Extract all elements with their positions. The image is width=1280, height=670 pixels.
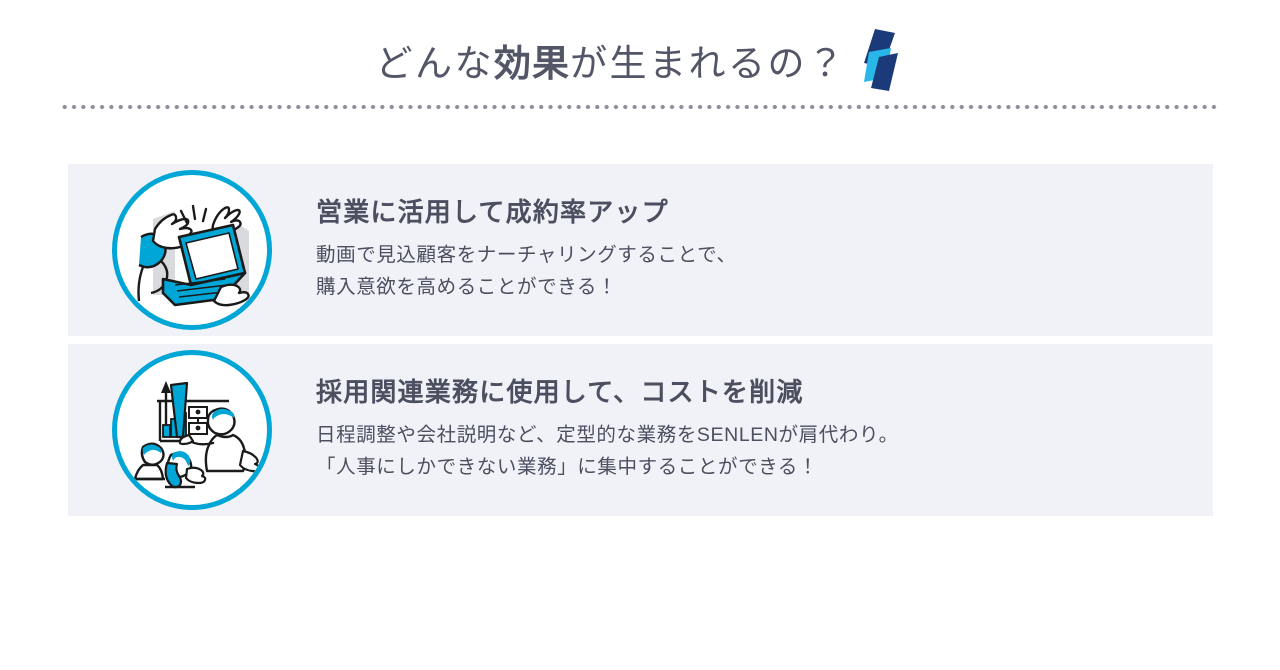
laptop-presentation-icon <box>112 170 272 330</box>
page-title-row: どんな効果が生まれるの？ <box>0 30 1280 96</box>
card-icon-container <box>68 350 316 510</box>
card-description-line: 動画で見込顧客をナーチャリングすることで、 <box>316 240 1193 272</box>
page-title: どんな効果が生まれるの？ <box>376 45 847 82</box>
card-heading: 営業に活用して成約率アップ <box>316 197 1193 228</box>
card-heading: 採用関連業務に使用して、コストを削減 <box>316 377 1193 408</box>
benefit-card: 採用関連業務に使用して、コストを削減 日程調整や会社説明など、定型的な業務をSE… <box>68 344 1213 516</box>
card-text-block: 採用関連業務に使用して、コストを削減 日程調整や会社説明など、定型的な業務をSE… <box>316 377 1213 483</box>
card-text-block: 営業に活用して成約率アップ 動画で見込顧客をナーチャリングすることで、 購入意欲… <box>316 197 1213 303</box>
chart-presentation-meeting-icon <box>112 350 272 510</box>
benefit-card: 営業に活用して成約率アップ 動画で見込顧客をナーチャリングすることで、 購入意欲… <box>68 164 1213 336</box>
benefit-card-list: 営業に活用して成約率アップ 動画で見込顧客をナーチャリングすることで、 購入意欲… <box>68 164 1213 516</box>
dotted-divider <box>60 104 1220 110</box>
senlen-logo-mark-icon <box>857 28 905 94</box>
page-title-tail: が生まれるの？ <box>570 43 847 84</box>
page-title-emphasis: 効果 <box>494 43 570 84</box>
card-icon-container <box>68 170 316 330</box>
card-description-line: 購入意欲を高めることができる！ <box>316 272 1193 304</box>
card-description-line: 日程調整や会社説明など、定型的な業務をSENLENが肩代わり。 <box>316 420 1193 452</box>
page-header: どんな効果が生まれるの？ <box>0 0 1280 118</box>
card-description-line: 「人事にしかできない業務」に集中することができる！ <box>316 452 1193 484</box>
page-title-lead: どんな <box>376 43 495 84</box>
